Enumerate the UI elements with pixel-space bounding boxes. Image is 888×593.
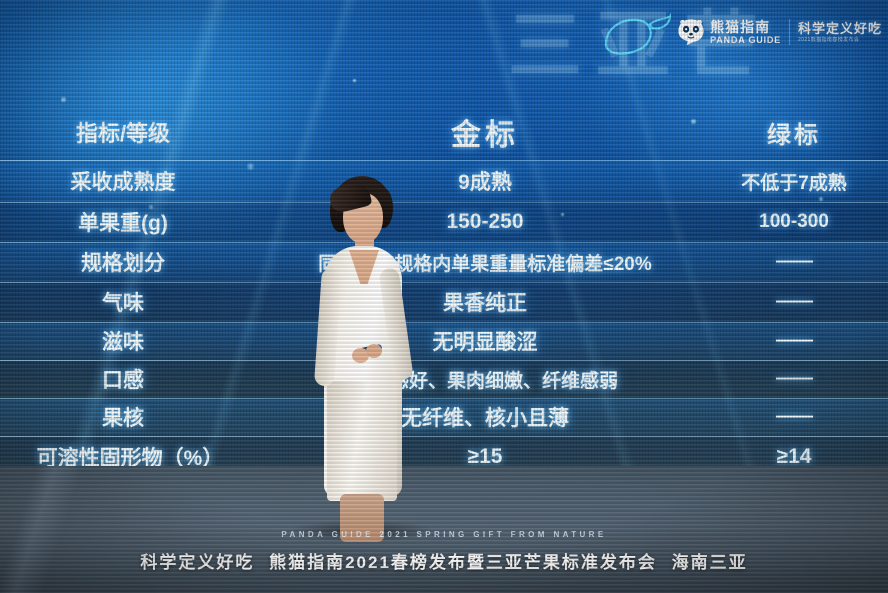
row-separator <box>0 282 888 283</box>
logo-divider <box>789 19 790 45</box>
table-row: 规格划分 同一包装规格内单果重量标准偏差≤20% —— <box>0 242 888 282</box>
row-label: 滋味 <box>0 326 270 356</box>
panda-guide-logo: 熊猫指南 PANDA GUIDE <box>677 18 781 46</box>
slogan-lockup: 科学定义好吃 2021熊猫指南春榜发布会 <box>798 22 882 43</box>
header-indicator: 指标/等级 <box>0 116 270 148</box>
mango-outline-icon <box>600 12 674 60</box>
table-row: 果核 无纤维、核小且薄 —— <box>0 398 888 436</box>
table-row: 单果重(g) 150-250 100-300 <box>0 202 888 242</box>
table-header-row: 指标/等级 金标 绿标 <box>0 104 888 160</box>
row-label: 规格划分 <box>0 247 270 277</box>
row-separator <box>0 242 888 243</box>
row-green-value: —— <box>700 406 888 428</box>
presenter-skirt <box>327 381 397 501</box>
slogan-sub: 2021熊猫指南春榜发布会 <box>798 38 882 43</box>
row-green-value: 100-300 <box>700 211 888 233</box>
row-label: 气味 <box>0 287 270 317</box>
row-green-value: 不低于7成熟 <box>700 168 888 195</box>
header-gold: 金标 <box>270 110 700 154</box>
row-label: 果核 <box>0 402 270 432</box>
row-separator <box>0 398 888 399</box>
row-separator <box>0 160 888 161</box>
table-row: 气味 果香纯正 —— <box>0 282 888 322</box>
caption-english: PANDA GUIDE 2021 SPRING GIFT FROM NATURE <box>0 530 888 539</box>
row-green-value: —— <box>700 368 888 390</box>
caption-chinese: 科学定义好吃 熊猫指南2021春榜发布暨三亚芒果标准发布会 海南三亚 <box>0 548 888 573</box>
sparkle <box>60 96 67 103</box>
row-label: 单果重(g) <box>0 207 270 237</box>
logo-lockup: 熊猫指南 PANDA GUIDE 科学定义好吃 2021熊猫指南春榜发布会 <box>677 18 882 46</box>
header-green: 绿标 <box>700 115 888 150</box>
row-label: 采收成熟度 <box>0 166 270 196</box>
row-green-value: —— <box>700 291 888 313</box>
caption-event: 熊猫指南2021春榜发布暨三亚芒果标准发布会 <box>269 553 657 572</box>
panda-logo-cn: 熊猫指南 <box>710 20 781 34</box>
row-label: 口感 <box>0 364 270 394</box>
row-separator <box>0 322 888 323</box>
row-separator <box>0 360 888 361</box>
presentation-photo: 三亚芒 熊猫指南 PANDA GUIDE 科 <box>0 0 888 593</box>
row-separator <box>0 202 888 203</box>
presenter-hand-right <box>366 344 382 358</box>
panda-head-icon <box>677 18 705 46</box>
row-separator <box>0 436 888 437</box>
caption-lead: 科学定义好吃 <box>140 553 254 572</box>
table-row: 采收成熟度 9成熟 不低于7成熟 <box>0 160 888 202</box>
table-row: 口感 肉质感好、果肉细嫩、纤维感弱 —— <box>0 360 888 398</box>
table-row: 滋味 无明显酸涩 —— <box>0 322 888 360</box>
presenter <box>300 176 424 536</box>
slogan-main: 科学定义好吃 <box>798 22 882 35</box>
sparkle <box>352 78 357 83</box>
caption-location: 海南三亚 <box>672 553 748 572</box>
panda-logo-en: PANDA GUIDE <box>710 36 781 45</box>
row-green-value: —— <box>700 330 888 352</box>
row-green-value: —— <box>700 251 888 273</box>
standards-table: 指标/等级 金标 绿标 采收成熟度 9成熟 不低于7成熟 单果重(g) 150-… <box>0 104 888 478</box>
